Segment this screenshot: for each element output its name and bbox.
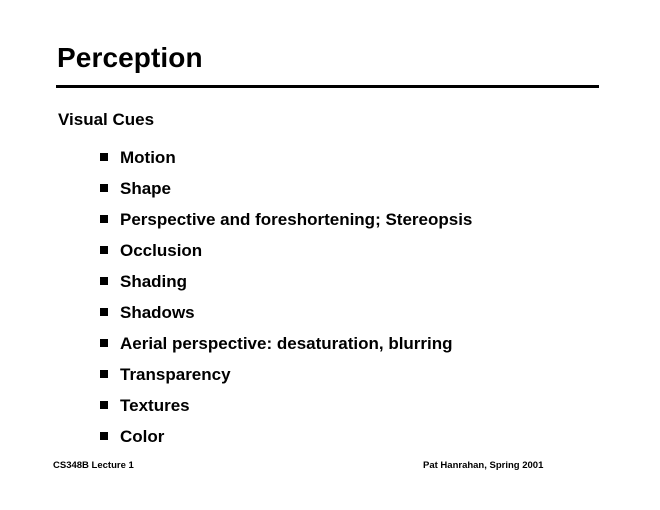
square-bullet-icon xyxy=(100,153,108,161)
list-item-label: Perspective and foreshortening; Stereops… xyxy=(120,211,472,228)
list-item: Perspective and foreshortening; Stereops… xyxy=(100,204,472,235)
square-bullet-icon xyxy=(100,432,108,440)
square-bullet-icon xyxy=(100,308,108,316)
square-bullet-icon xyxy=(100,401,108,409)
list-item: Shadows xyxy=(100,297,472,328)
list-item: Motion xyxy=(100,142,472,173)
section-heading: Visual Cues xyxy=(58,111,154,128)
slide-canvas: Perception Visual Cues Motion Shape Pers… xyxy=(0,0,660,510)
footer-author-label: Pat Hanrahan, Spring 2001 xyxy=(423,461,543,471)
list-item: Textures xyxy=(100,390,472,421)
list-item-label: Transparency xyxy=(120,366,231,383)
list-item-label: Shape xyxy=(120,180,171,197)
list-item: Occlusion xyxy=(100,235,472,266)
list-item: Color xyxy=(100,421,472,452)
list-item-label: Color xyxy=(120,428,164,445)
square-bullet-icon xyxy=(100,215,108,223)
list-item: Transparency xyxy=(100,359,472,390)
square-bullet-icon xyxy=(100,184,108,192)
list-item-label: Shadows xyxy=(120,304,195,321)
list-item-label: Shading xyxy=(120,273,187,290)
list-item: Shading xyxy=(100,266,472,297)
title-divider xyxy=(56,85,599,88)
visual-cues-list: Motion Shape Perspective and foreshorten… xyxy=(100,142,472,452)
list-item-label: Aerial perspective: desaturation, blurri… xyxy=(120,335,453,352)
page-title: Perception xyxy=(57,44,203,72)
list-item-label: Occlusion xyxy=(120,242,202,259)
list-item-label: Motion xyxy=(120,149,176,166)
list-item: Shape xyxy=(100,173,472,204)
list-item-label: Textures xyxy=(120,397,190,414)
list-item: Aerial perspective: desaturation, blurri… xyxy=(100,328,472,359)
footer-course-label: CS348B Lecture 1 xyxy=(53,461,134,471)
square-bullet-icon xyxy=(100,246,108,254)
square-bullet-icon xyxy=(100,370,108,378)
square-bullet-icon xyxy=(100,339,108,347)
square-bullet-icon xyxy=(100,277,108,285)
